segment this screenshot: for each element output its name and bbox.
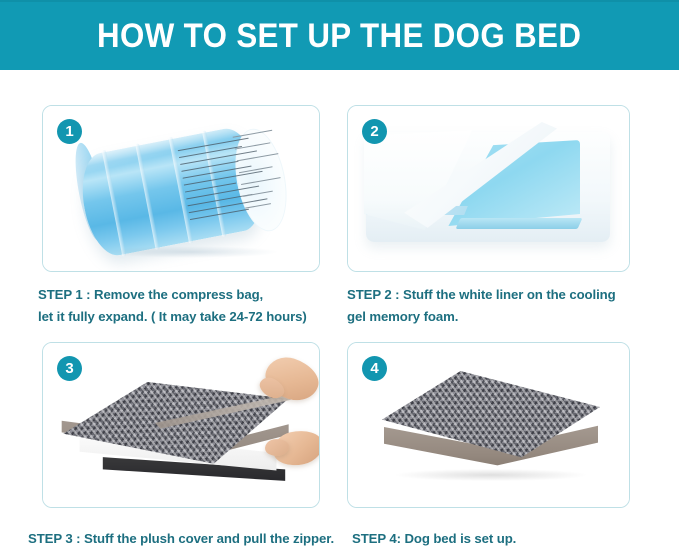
step-badge-4: 4 <box>362 356 387 381</box>
step-badge-1: 1 <box>57 119 82 144</box>
step-3-image <box>43 343 319 507</box>
step-card-2: 2 <box>347 105 630 272</box>
step-1-caption: STEP 1 : Remove the compress bag, let it… <box>38 284 338 328</box>
bed-shadow <box>396 469 586 481</box>
step-badge-3: 3 <box>57 356 82 381</box>
compress-bag-roll <box>69 120 295 262</box>
step-card-1: 1 <box>42 105 320 272</box>
step-4-image <box>348 343 629 507</box>
page-title: HOW TO SET UP THE DOG BED <box>97 19 581 53</box>
step-2-caption: STEP 2 : Stuff the white liner on the co… <box>347 284 647 328</box>
step-card-3: 3 <box>42 342 320 508</box>
step-1-image <box>43 106 319 271</box>
header-banner: HOW TO SET UP THE DOG BED <box>0 0 679 70</box>
roll-shadow <box>103 246 279 258</box>
step-3-caption: STEP 3 : Stuff the plush cover and pull … <box>28 528 334 550</box>
step-4-caption: STEP 4: Dog bed is set up. <box>352 528 516 550</box>
step-card-4: 4 <box>347 342 630 508</box>
gel-foam-edge <box>456 218 583 229</box>
instruction-poster: HOW TO SET UP THE DOG BED <box>0 0 679 550</box>
step-2-image <box>348 106 629 271</box>
step-badge-2: 2 <box>362 119 387 144</box>
